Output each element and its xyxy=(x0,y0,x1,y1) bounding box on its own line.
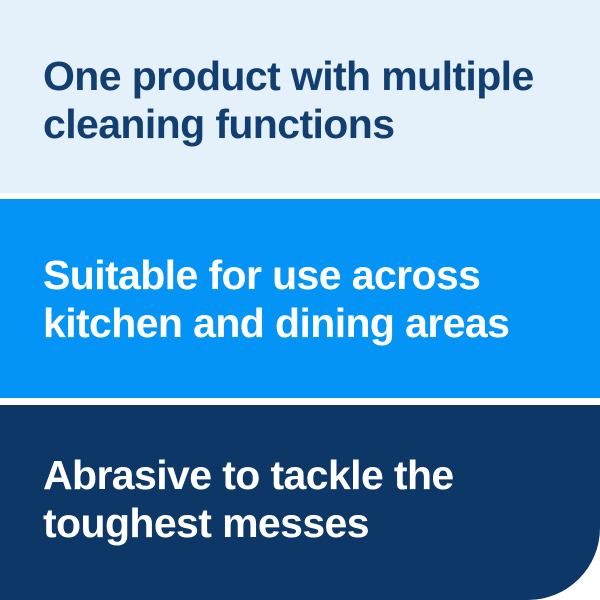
feature-panel-one: One product with multiple cleaning funct… xyxy=(0,0,600,193)
feature-panel-two: Suitable for use across kitchen and dini… xyxy=(0,199,600,398)
feature-panel-three: Abrasive to tackle the toughest messes xyxy=(0,405,600,600)
feature-panel-one-headline: One product with multiple cleaning funct… xyxy=(0,52,600,148)
feature-panel-three-headline: Abrasive to tackle the toughest messes xyxy=(0,451,600,547)
feature-panel-two-headline: Suitable for use across kitchen and dini… xyxy=(0,251,600,347)
feature-panels-canvas: One product with multiple cleaning funct… xyxy=(0,0,600,600)
